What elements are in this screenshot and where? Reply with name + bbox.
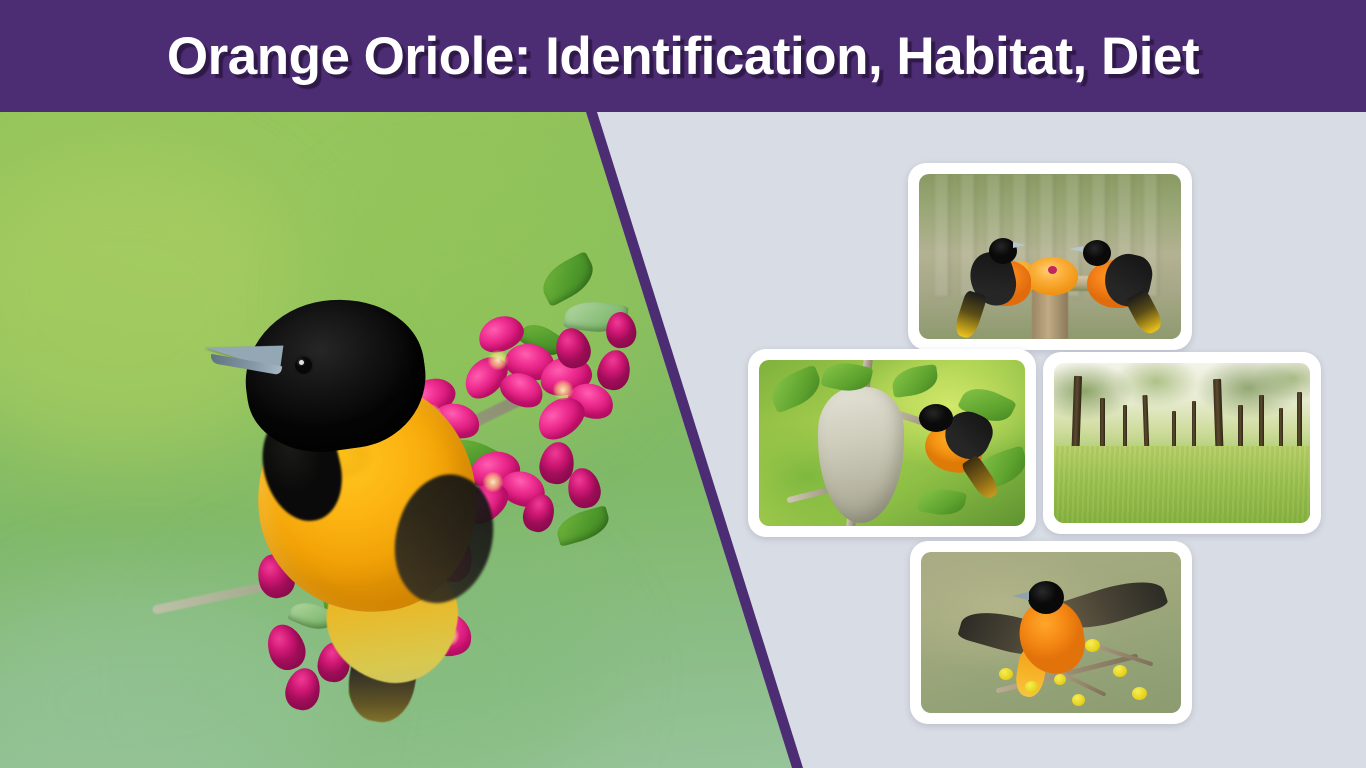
thumb-nest-image bbox=[759, 360, 1025, 526]
thumb-feeder-image bbox=[919, 174, 1181, 339]
title-bar: Orange Oriole: Identification, Habitat, … bbox=[0, 0, 1366, 112]
slide-canvas: Orange Oriole: Identification, Habitat, … bbox=[0, 0, 1366, 768]
thumb-habitat[interactable] bbox=[1043, 352, 1321, 534]
page-title: Orange Oriole: Identification, Habitat, … bbox=[0, 0, 1366, 112]
bird-eye bbox=[295, 357, 312, 374]
thumb-nest[interactable] bbox=[748, 349, 1036, 537]
oriole-bird bbox=[200, 262, 560, 692]
thumb-habitat-image bbox=[1054, 363, 1310, 523]
thumb-flight-image bbox=[921, 552, 1181, 713]
thumb-feeder[interactable] bbox=[908, 163, 1192, 350]
thumb-flight[interactable] bbox=[910, 541, 1192, 724]
